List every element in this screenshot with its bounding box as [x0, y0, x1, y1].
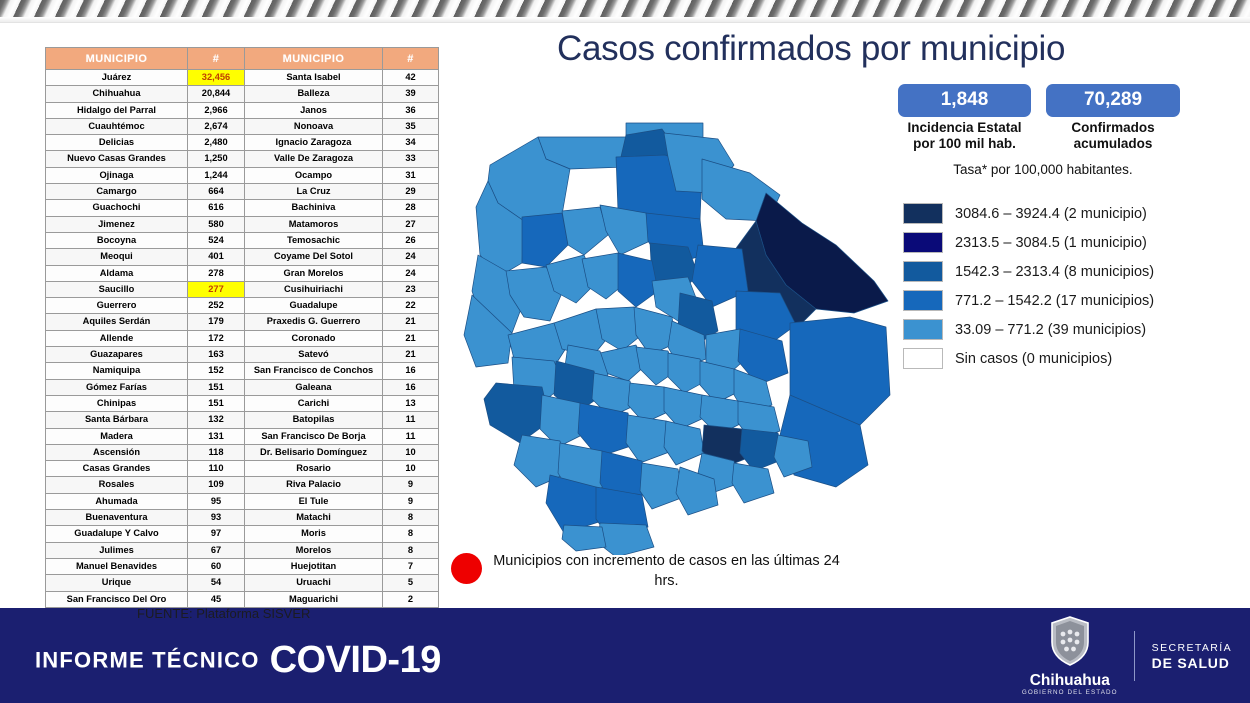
cell-count-left: 2,966 [188, 102, 245, 118]
cell-municipio-right: Batopilas [245, 412, 383, 428]
cell-count-right: 2 [383, 591, 439, 607]
cell-municipio-right: Ignacio Zaragoza [245, 135, 383, 151]
cell-municipio-left: Casas Grandes [46, 461, 188, 477]
table-row: Camargo664La Cruz29 [46, 184, 439, 200]
cell-municipio-left: Hidalgo del Parral [46, 102, 188, 118]
cell-municipio-right: Matachi [245, 510, 383, 526]
cell-count-right: 16 [383, 363, 439, 379]
table-row: Ascensión118Dr. Belisario Domínguez10 [46, 444, 439, 460]
cell-count-left: 45 [188, 591, 245, 607]
cell-count-left: 172 [188, 330, 245, 346]
cell-municipio-right: Galeana [245, 379, 383, 395]
cell-municipio-left: Juárez [46, 70, 188, 86]
table-row: Namiquipa152San Francisco de Conchos16 [46, 363, 439, 379]
cell-count-left: 277 [188, 281, 245, 297]
map-region [664, 421, 704, 465]
cell-municipio-left: Camargo [46, 184, 188, 200]
table-row: Madera131San Francisco De Borja11 [46, 428, 439, 444]
legend-label: Sin casos (0 municipios) [955, 351, 1112, 367]
table-body: Juárez32,456Santa Isabel42Chihuahua20,84… [46, 70, 439, 624]
cell-count-left: 252 [188, 298, 245, 314]
table-row: Aldama278Gran Morelos24 [46, 265, 439, 281]
cell-count-left: 616 [188, 200, 245, 216]
cell-count-left: 278 [188, 265, 245, 281]
cell-count-left: 2,674 [188, 118, 245, 134]
cell-count-left: 1,244 [188, 167, 245, 183]
cell-municipio-right: La Cruz [245, 184, 383, 200]
kpi-incidencia-caption-line2: por 100 mil hab. [898, 136, 1031, 152]
cell-count-right: 8 [383, 510, 439, 526]
table-row: Santa Bárbara132Batopilas11 [46, 412, 439, 428]
cell-count-right: 28 [383, 200, 439, 216]
rate-note: Tasa* por 100,000 habitantes. [898, 162, 1188, 177]
shield-icon [1049, 616, 1091, 666]
salud-line1: SECRETARÍA [1152, 641, 1232, 656]
municipios-table: MUNICIPIO # MUNICIPIO # Juárez32,456Sant… [45, 47, 439, 624]
cell-count-right: 24 [383, 249, 439, 265]
legend-label: 2313.5 – 3084.5 (1 municipio) [955, 235, 1147, 251]
map-region [618, 253, 658, 307]
logo-divider [1134, 631, 1135, 681]
cell-municipio-right: El Tule [245, 493, 383, 509]
cell-municipio-left: Julimes [46, 542, 188, 558]
kpi-confirmados-caption: Confirmados acumulados [1046, 120, 1180, 152]
source-label: FUENTE: Plataforma SISVER [137, 606, 310, 621]
kpi-confirmados-acumulados: 70,289 Confirmados acumulados [1046, 84, 1180, 152]
column-header-municipio-2: MUNICIPIO [245, 48, 383, 70]
secretaria-de-salud-logo: SECRETARÍA DE SALUD [1152, 641, 1232, 671]
cell-municipio-right: Nonoava [245, 118, 383, 134]
cell-municipio-left: Nuevo Casas Grandes [46, 151, 188, 167]
cell-municipio-right: Matamoros [245, 216, 383, 232]
cell-count-left: 97 [188, 526, 245, 542]
chihuahua-logo-sub: GOBIERNO DEL ESTADO [1022, 688, 1118, 697]
kpi-confirmados-caption-line1: Confirmados [1046, 120, 1180, 136]
cell-count-left: 664 [188, 184, 245, 200]
kpi-confirmados-value: 70,289 [1046, 84, 1180, 117]
cell-municipio-left: Guerrero [46, 298, 188, 314]
cell-count-left: 93 [188, 510, 245, 526]
cell-municipio-right: Maguarichi [245, 591, 383, 607]
cell-municipio-right: Ocampo [245, 167, 383, 183]
cell-municipio-right: San Francisco de Conchos [245, 363, 383, 379]
cell-municipio-left: Chinipas [46, 395, 188, 411]
chihuahua-government-logo: Chihuahua GOBIERNO DEL ESTADO [1022, 616, 1118, 697]
cell-count-left: 95 [188, 493, 245, 509]
cell-municipio-right: Satevó [245, 347, 383, 363]
map-region [522, 213, 568, 267]
cell-count-right: 7 [383, 558, 439, 574]
cell-count-left: 163 [188, 347, 245, 363]
cell-municipio-left: Urique [46, 575, 188, 591]
map-region [562, 207, 608, 255]
cell-municipio-left: Ahumada [46, 493, 188, 509]
cell-municipio-left: Jimenez [46, 216, 188, 232]
table-row: Aquiles Serdán179Praxedis G. Guerrero21 [46, 314, 439, 330]
cell-municipio-left: Guachochi [46, 200, 188, 216]
legend-item: 3084.6 – 3924.4 (2 municipio) [903, 199, 1154, 228]
cell-count-left: 67 [188, 542, 245, 558]
table-row: Delicias2,480Ignacio Zaragoza34 [46, 135, 439, 151]
legend-label: 771.2 – 1542.2 (17 municipios) [955, 293, 1154, 309]
cell-count-right: 35 [383, 118, 439, 134]
cell-count-right: 22 [383, 298, 439, 314]
cell-count-left: 580 [188, 216, 245, 232]
cell-municipio-right: Uruachi [245, 575, 383, 591]
cell-count-right: 9 [383, 477, 439, 493]
map-legend: 3084.6 – 3924.4 (2 municipio)2313.5 – 30… [903, 199, 1154, 373]
cell-count-left: 524 [188, 232, 245, 248]
cell-municipio-left: Aldama [46, 265, 188, 281]
cell-count-left: 32,456 [188, 70, 245, 86]
banner-covid-label: COVID-19 [270, 639, 441, 681]
table-row: Ahumada95El Tule9 [46, 493, 439, 509]
table-row: Guadalupe Y Calvo97Moris8 [46, 526, 439, 542]
cell-count-left: 152 [188, 363, 245, 379]
cell-count-right: 16 [383, 379, 439, 395]
banner-prefix: INFORME TÉCNICO [35, 648, 260, 673]
cell-count-left: 1,250 [188, 151, 245, 167]
table-row: Nuevo Casas Grandes1,250Valle De Zaragoz… [46, 151, 439, 167]
table-row: Guazapares163Satevó21 [46, 347, 439, 363]
table-row: Cuauhtémoc2,674Nonoava35 [46, 118, 439, 134]
cell-count-right: 29 [383, 184, 439, 200]
banner-logos: Chihuahua GOBIERNO DEL ESTADO SECRETARÍA… [1022, 622, 1232, 690]
cell-count-left: 118 [188, 444, 245, 460]
cell-count-right: 8 [383, 526, 439, 542]
cell-count-left: 2,480 [188, 135, 245, 151]
kpi-incidencia-estatal: 1,848 Incidencia Estatal por 100 mil hab… [898, 84, 1031, 152]
decorative-stripe-band [0, 0, 1250, 23]
cell-count-left: 109 [188, 477, 245, 493]
salud-line2: DE SALUD [1152, 656, 1232, 671]
legend-item: 1542.3 – 2313.4 (8 municipios) [903, 257, 1154, 286]
legend-label: 3084.6 – 3924.4 (2 municipio) [955, 206, 1147, 222]
table-row: Meoqui401Coyame Del Sotol24 [46, 249, 439, 265]
cell-count-right: 21 [383, 330, 439, 346]
cell-count-right: 39 [383, 86, 439, 102]
cell-count-left: 151 [188, 379, 245, 395]
cell-count-right: 13 [383, 395, 439, 411]
cell-municipio-right: Morelos [245, 542, 383, 558]
cell-municipio-right: Temosachic [245, 232, 383, 248]
cell-municipio-right: San Francisco De Borja [245, 428, 383, 444]
cell-count-right: 34 [383, 135, 439, 151]
kpi-incidencia-caption: Incidencia Estatal por 100 mil hab. [898, 120, 1031, 152]
municipios-table-container: MUNICIPIO # MUNICIPIO # Juárez32,456Sant… [45, 47, 438, 624]
legend-label: 33.09 – 771.2 (39 municipios) [955, 322, 1146, 338]
cell-count-right: 8 [383, 542, 439, 558]
cell-count-right: 42 [383, 70, 439, 86]
table-row: Urique54Uruachi5 [46, 575, 439, 591]
map-region [732, 463, 774, 503]
cell-municipio-right: Riva Palacio [245, 477, 383, 493]
cell-municipio-left: Cuauhtémoc [46, 118, 188, 134]
table-row: Ojinaga1,244Ocampo31 [46, 167, 439, 183]
table-row: Chinipas151Carichi13 [46, 395, 439, 411]
cell-count-left: 151 [188, 395, 245, 411]
table-row: Buenaventura93Matachi8 [46, 510, 439, 526]
cell-municipio-left: Bocoyna [46, 232, 188, 248]
map-region [562, 525, 606, 551]
table-row: Bocoyna524Temosachic26 [46, 232, 439, 248]
cell-count-right: 21 [383, 347, 439, 363]
cell-municipio-left: Buenaventura [46, 510, 188, 526]
cell-count-right: 10 [383, 444, 439, 460]
cell-municipio-right: Valle De Zaragoza [245, 151, 383, 167]
cell-municipio-right: Cusihuiriachi [245, 281, 383, 297]
cell-municipio-right: Bachiniva [245, 200, 383, 216]
cell-count-right: 33 [383, 151, 439, 167]
cell-count-left: 54 [188, 575, 245, 591]
cell-municipio-left: Ojinaga [46, 167, 188, 183]
cell-count-left: 132 [188, 412, 245, 428]
cell-count-right: 11 [383, 412, 439, 428]
kpi-incidencia-caption-line1: Incidencia Estatal [898, 120, 1031, 136]
cell-municipio-right: Praxedis G. Guerrero [245, 314, 383, 330]
cell-municipio-left: San Francisco Del Oro [46, 591, 188, 607]
cell-count-right: 5 [383, 575, 439, 591]
table-header-row: MUNICIPIO # MUNICIPIO # [46, 48, 439, 70]
chihuahua-logo-name: Chihuahua [1022, 673, 1118, 688]
cell-count-right: 26 [383, 232, 439, 248]
cell-municipio-left: Chihuahua [46, 86, 188, 102]
cell-count-left: 131 [188, 428, 245, 444]
cell-municipio-right: Rosario [245, 461, 383, 477]
cell-count-right: 11 [383, 428, 439, 444]
page-title: Casos confirmados por municipio [557, 29, 1065, 69]
cell-count-right: 21 [383, 314, 439, 330]
page-title-light: por municipio [851, 29, 1065, 68]
table-row: Chihuahua20,844Balleza39 [46, 86, 439, 102]
cell-municipio-left: Gómez Farías [46, 379, 188, 395]
column-header-municipio-1: MUNICIPIO [46, 48, 188, 70]
map-region [600, 205, 650, 255]
column-header-count-1: # [188, 48, 245, 70]
cell-count-right: 23 [383, 281, 439, 297]
legend-item: Sin casos (0 municipios) [903, 344, 1154, 373]
cell-municipio-right: Huejotitan [245, 558, 383, 574]
legend-item: 33.09 – 771.2 (39 municipios) [903, 315, 1154, 344]
cell-municipio-right: Janos [245, 102, 383, 118]
cell-municipio-right: Guadalupe [245, 298, 383, 314]
cell-municipio-left: Delicias [46, 135, 188, 151]
cell-municipio-right: Balleza [245, 86, 383, 102]
map-svg [450, 95, 910, 555]
table-row: Casas Grandes110Rosario10 [46, 461, 439, 477]
map-region [484, 383, 550, 443]
table-row: Saucillo277Cusihuiriachi23 [46, 281, 439, 297]
cell-municipio-left: Allende [46, 330, 188, 346]
cell-municipio-left: Rosales [46, 477, 188, 493]
cell-count-right: 36 [383, 102, 439, 118]
table-row: Jimenez580Matamoros27 [46, 216, 439, 232]
page-title-bold: Casos confirmados [557, 29, 851, 68]
red-circle-icon [451, 553, 482, 584]
cell-municipio-left: Aquiles Serdán [46, 314, 188, 330]
cell-count-left: 179 [188, 314, 245, 330]
table-row: San Francisco Del Oro45Maguarichi2 [46, 591, 439, 607]
cell-count-left: 60 [188, 558, 245, 574]
cell-municipio-right: Gran Morelos [245, 265, 383, 281]
cell-count-right: 10 [383, 461, 439, 477]
cell-municipio-right: Dr. Belisario Domínguez [245, 444, 383, 460]
cell-municipio-left: Guazapares [46, 347, 188, 363]
legend-item: 771.2 – 1542.2 (17 municipios) [903, 286, 1154, 315]
cell-municipio-left: Santa Bárbara [46, 412, 188, 428]
banner-title: INFORME TÉCNICOCOVID-19 [35, 639, 441, 682]
cell-municipio-left: Ascensión [46, 444, 188, 460]
cell-municipio-left: Guadalupe Y Calvo [46, 526, 188, 542]
chihuahua-choropleth-map [450, 95, 910, 555]
table-row: Gómez Farías151Galeana16 [46, 379, 439, 395]
cell-municipio-left: Saucillo [46, 281, 188, 297]
cell-municipio-left: Manuel Benavides [46, 558, 188, 574]
table-row: Allende172Coronado21 [46, 330, 439, 346]
table-row: Manuel Benavides60Huejotitan7 [46, 558, 439, 574]
cell-municipio-left: Namiquipa [46, 363, 188, 379]
cell-municipio-right: Coyame Del Sotol [245, 249, 383, 265]
bottom-banner: INFORME TÉCNICOCOVID-19 Chihuahua GOBIER… [0, 608, 1250, 703]
table-row: Guachochi616Bachiniva28 [46, 200, 439, 216]
legend-item: 2313.5 – 3084.5 (1 municipio) [903, 228, 1154, 257]
cell-count-right: 24 [383, 265, 439, 281]
cell-count-left: 401 [188, 249, 245, 265]
cell-municipio-left: Madera [46, 428, 188, 444]
legend-label: 1542.3 – 2313.4 (8 municipios) [955, 264, 1154, 280]
increment-note-text: Municipios con incremento de casos en la… [484, 551, 849, 591]
table-row: Julimes67Morelos8 [46, 542, 439, 558]
kpi-incidencia-value: 1,848 [898, 84, 1031, 117]
cell-municipio-right: Carichi [245, 395, 383, 411]
cell-municipio-right: Santa Isabel [245, 70, 383, 86]
cell-municipio-left: Meoqui [46, 249, 188, 265]
kpi-confirmados-caption-line2: acumulados [1046, 136, 1180, 152]
table-row: Hidalgo del Parral2,966Janos36 [46, 102, 439, 118]
column-header-count-2: # [383, 48, 439, 70]
cell-count-right: 27 [383, 216, 439, 232]
cell-count-right: 9 [383, 493, 439, 509]
cell-municipio-right: Coronado [245, 330, 383, 346]
table-row: Juárez32,456Santa Isabel42 [46, 70, 439, 86]
table-row: Guerrero252Guadalupe22 [46, 298, 439, 314]
table-row: Rosales109Riva Palacio9 [46, 477, 439, 493]
cell-municipio-right: Moris [245, 526, 383, 542]
cell-count-right: 31 [383, 167, 439, 183]
cell-count-left: 110 [188, 461, 245, 477]
cell-count-left: 20,844 [188, 86, 245, 102]
